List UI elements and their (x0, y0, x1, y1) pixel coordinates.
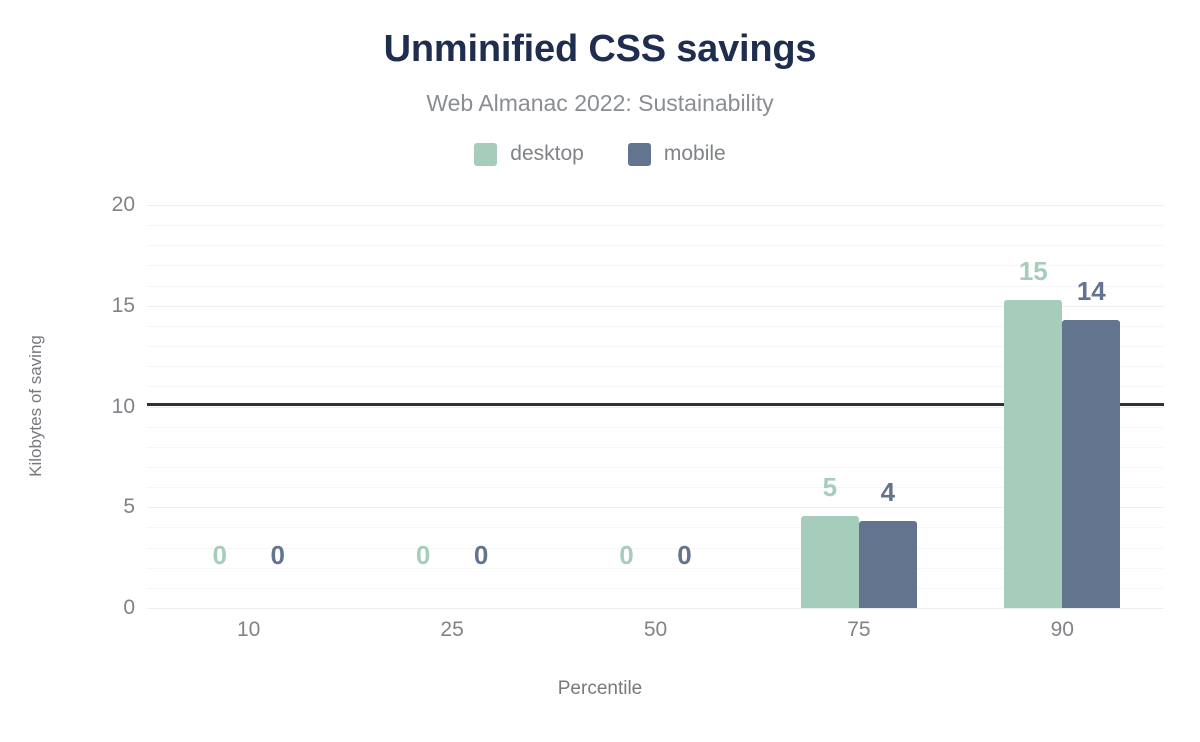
bar-label-mobile-25: 0 (474, 540, 488, 571)
x-tick-label: 90 (1051, 618, 1074, 642)
chart-title: Unminified CSS savings (0, 28, 1200, 71)
bar-label-desktop-75: 5 (823, 472, 837, 503)
chart-legend: desktop mobile (0, 142, 1200, 166)
legend-swatch-desktop (474, 143, 497, 166)
x-tick-label: 75 (847, 618, 870, 642)
bar-label-mobile-75: 4 (881, 477, 895, 508)
y-tick-label: 10 (75, 395, 135, 419)
legend-label-desktop: desktop (510, 142, 584, 166)
bar-label-mobile-10: 0 (270, 540, 284, 571)
bar-mobile-75[interactable] (859, 521, 917, 608)
y-tick-label: 20 (75, 193, 135, 217)
bar-label-desktop-50: 0 (619, 540, 633, 571)
x-tick-label: 50 (644, 618, 667, 642)
legend-item-mobile[interactable]: mobile (628, 142, 726, 166)
y-tick-label: 5 (75, 495, 135, 519)
x-tick-label: 10 (237, 618, 260, 642)
y-axis-title: Kilobytes of saving (26, 335, 46, 477)
legend-item-desktop[interactable]: desktop (474, 142, 584, 166)
bar-label-desktop-10: 0 (212, 540, 226, 571)
gridline-minor (147, 265, 1164, 266)
y-tick-label: 0 (75, 596, 135, 620)
bar-desktop-90[interactable] (1004, 300, 1062, 608)
bar-desktop-75[interactable] (801, 516, 859, 608)
gridline-minor (147, 286, 1164, 287)
bar-mobile-90[interactable] (1062, 320, 1120, 608)
y-tick-label: 15 (75, 294, 135, 318)
bar-label-mobile-50: 0 (677, 540, 691, 571)
x-tick-label: 25 (440, 618, 463, 642)
gridline-major (147, 608, 1164, 609)
legend-label-mobile: mobile (664, 142, 726, 166)
chart-container: Unminified CSS savings Web Almanac 2022:… (0, 0, 1200, 742)
gridline-major (147, 205, 1164, 206)
gridline-minor (147, 225, 1164, 226)
chart-subtitle: Web Almanac 2022: Sustainability (0, 90, 1200, 117)
gridline-minor (147, 245, 1164, 246)
bar-label-desktop-25: 0 (416, 540, 430, 571)
legend-swatch-mobile (628, 143, 651, 166)
bar-label-mobile-90: 14 (1077, 276, 1106, 307)
bar-label-desktop-90: 15 (1019, 256, 1048, 287)
x-axis-title: Percentile (0, 678, 1200, 700)
